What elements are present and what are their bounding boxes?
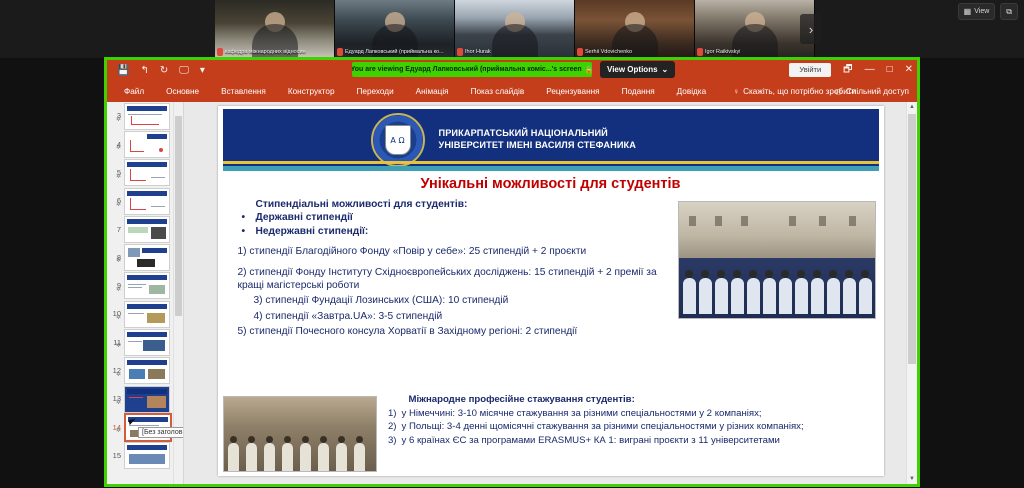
thumbnail-preview [124, 357, 170, 384]
thumbnail-item[interactable]: 12 ✲ [107, 357, 183, 385]
tab-file[interactable]: Файл [113, 87, 155, 96]
window-detail [689, 216, 696, 226]
person-shape [779, 278, 792, 314]
university-line-2: УНІВЕРСИТЕТ ІМЕНІ ВАСИЛЯ СТЕФАНИКА [439, 139, 636, 151]
participant-label: Ihor Hurak [457, 47, 572, 57]
thumb-band [142, 248, 167, 253]
screen-root: кафедра міжнародних відносин Едуард Лапк… [0, 0, 1024, 488]
person-head [781, 270, 789, 278]
internship-number: 3) [381, 435, 397, 448]
person-head [338, 436, 345, 443]
participant-tile[interactable]: Ihor Hurak [455, 0, 575, 58]
university-line-1: ПРИКАРПАТСЬКИЙ НАЦІОНАЛЬНИЙ [439, 127, 636, 139]
thumbnail-preview [124, 442, 170, 469]
thumb-line [151, 206, 165, 207]
window-controls: Увійти 🗗 — □ ✕ [789, 61, 913, 78]
person-shape [699, 278, 712, 314]
tab-home[interactable]: Основне [155, 87, 210, 96]
person-head [685, 270, 693, 278]
thumb-line [128, 284, 146, 285]
chevron-down-icon: ⌄ [662, 65, 669, 74]
reading-view-button[interactable]: ▥ [724, 486, 739, 487]
participant-label: Serhii Vdovichenko [577, 47, 692, 57]
slide-bullet: Державні стипендії [238, 211, 658, 224]
quick-access-toolbar: 💾 ↰ ↻ 🖵 ▾ You are viewing Едуард Лапковс… [107, 60, 917, 81]
tab-slideshow[interactable]: Показ слайдів [460, 87, 536, 96]
animation-star-icon: ✲ [110, 202, 121, 208]
slide-body-right: Міжнародне професійне стажування студент… [381, 394, 878, 447]
thumbnail-preview [124, 244, 170, 271]
scroll-up-icon[interactable]: ▲ [907, 102, 917, 112]
collapse-icon: ⧉ [1006, 8, 1012, 16]
screen-share-banner: You are viewing Едуард Лапковський (прий… [352, 62, 592, 77]
participant-tiles: кафедра міжнародних відносин Едуард Лапк… [215, 0, 815, 58]
person-shape [336, 443, 347, 471]
person-head [797, 270, 805, 278]
normal-view-button[interactable]: ▤ [676, 486, 691, 487]
slide-subheading: Стипендіальні можливості для студентів: [238, 198, 658, 211]
thumb-band [127, 162, 167, 167]
slide-sorter-button[interactable]: ▦ [700, 486, 715, 487]
thumbnail-preview [124, 188, 170, 215]
thumb-line [128, 114, 162, 115]
university-name: ПРИКАРПАТСЬКИЙ НАЦІОНАЛЬНИЙ УНІВЕРСИТЕТ … [439, 127, 636, 151]
internship-text: у Німеччині: 3-10 місячне стажування за … [402, 408, 878, 421]
person-shape [318, 443, 329, 471]
thumb-image [143, 340, 165, 351]
thumb-accent [130, 180, 146, 181]
slide-header-banner: A Ω ПРИКАРПАТСЬКИЙ НАЦІОНАЛЬНИЙ УНІВЕРСИ… [223, 109, 879, 171]
view-layout-button[interactable]: ▦ View [958, 3, 996, 20]
animation-star-icon: ✲ [110, 400, 121, 406]
tab-insert[interactable]: Вставлення [210, 87, 277, 96]
thumb-image [128, 227, 148, 233]
person-shape [811, 278, 824, 314]
internship-item: 3) у 6 країнах ЄС за програмами ERASMUS+… [381, 435, 878, 448]
window-detail [789, 216, 796, 226]
thumbnail-preview [124, 131, 170, 158]
mic-muted-icon [697, 48, 703, 56]
view-options-button[interactable]: View Options ⌄ [600, 61, 675, 78]
window-detail [741, 216, 748, 226]
people-row [681, 261, 873, 314]
thumb-accent [130, 151, 144, 152]
thumbnail-item[interactable]: 11 ✲ [107, 328, 183, 356]
thumb-accent [131, 124, 159, 125]
person-head [302, 436, 309, 443]
person-shape [715, 278, 728, 314]
customize-qat-icon[interactable]: ▾ [200, 66, 205, 76]
share-banner-text: You are viewing Едуард Лапковський (прий… [352, 66, 582, 73]
thumbnail-item[interactable]: 8 ✲ [107, 243, 183, 271]
participant-name: Едуард Лапковський (приймальна ко... [345, 48, 444, 56]
status-right: ⇡ Нотатки 🗨 Примітки ▤ ▦ ▥ ▭ − + 112% ⛶ [580, 486, 911, 487]
tab-design[interactable]: Конструктор [277, 87, 346, 96]
person-shape [843, 278, 856, 314]
tab-review[interactable]: Рецензування [535, 87, 610, 96]
thumb-image [147, 396, 166, 408]
thumb-line [128, 341, 142, 342]
tab-animations[interactable]: Анімація [405, 87, 460, 96]
participant-name: кафедра міжнародних відносин [225, 48, 306, 56]
animation-star-icon: ✲ [110, 174, 121, 180]
participant-label: кафедра міжнародних відносин [217, 47, 332, 57]
present-icon[interactable]: 🖵 [179, 66, 189, 76]
internship-text: у Польщі: 3-4 денні щомісячні стажування… [402, 421, 878, 434]
animation-star-icon: ✲ [110, 287, 121, 293]
slide-paragraph: 5) стипендії Почесного консула Хорватії … [238, 325, 658, 338]
lightbulb-icon: ♀ [733, 87, 739, 96]
person-head [284, 436, 291, 443]
person-shape [282, 443, 293, 471]
thumb-image [148, 369, 165, 379]
slide-photo-students-group [678, 201, 876, 319]
thumb-image [147, 313, 165, 323]
person-head [765, 270, 773, 278]
person-head [266, 436, 273, 443]
thumbnail-item[interactable]: 4 ✲ [107, 130, 183, 158]
person-head [733, 270, 741, 278]
thumb-band [127, 275, 167, 280]
logo-monogram: A Ω [385, 125, 411, 155]
slide-scrollbar-thumb[interactable] [908, 114, 916, 364]
tab-transitions[interactable]: Переходи [346, 87, 405, 96]
university-logo-icon: A Ω [371, 113, 425, 167]
person-head [717, 270, 725, 278]
person-head [230, 436, 237, 443]
thumbnail-item[interactable]: 13 ✲ [107, 385, 183, 413]
tab-help[interactable]: Довідка [666, 87, 717, 96]
participant-name: Serhii Vdovichenko [585, 48, 632, 56]
window-detail [849, 216, 856, 226]
thumb-image [149, 285, 165, 294]
slide-paragraph: 3) стипендії Фундації Лозинських (США): … [238, 294, 658, 307]
undo-icon[interactable]: ↰ [140, 66, 148, 76]
thumbnail-item-selected[interactable]: 14 ✲ [Без заголовка] [107, 413, 183, 441]
save-icon[interactable]: 💾 [117, 66, 129, 76]
thumbnail-preview [124, 159, 170, 186]
animation-star-icon: ✲ [110, 343, 121, 349]
internship-heading: Міжнародне професійне стажування студент… [381, 394, 878, 407]
slide-photo-classroom [223, 396, 377, 472]
restore-window-icon[interactable]: 🗗 [843, 65, 852, 75]
lock-icon: 🔒 [585, 66, 592, 74]
animation-star-icon: ✲ [110, 145, 121, 151]
thumbnail-item[interactable]: 9 ✲ [107, 272, 183, 300]
internship-text: у 6 країнах ЄС за програмами ERASMUS+ КА… [402, 435, 878, 448]
header-teal-rule [223, 166, 879, 171]
window-detail [715, 216, 722, 226]
thumb-accent [129, 397, 143, 398]
slide-paragraph: 4) стипендії «Завтра.UA»: 3-5 стипендій [238, 310, 658, 323]
thumb-band [127, 445, 167, 450]
thumb-band [127, 389, 167, 394]
scroll-down-icon[interactable]: ▼ [907, 474, 917, 484]
slide-scrollbar[interactable]: ▲ ▼ [906, 102, 917, 484]
person-head [248, 436, 255, 443]
thumbnail-scrollbar-thumb[interactable] [175, 116, 182, 316]
signin-button[interactable]: Увійти [789, 63, 831, 77]
person-share-icon: ⚇ [835, 87, 842, 97]
grid-view-icon: ▦ [964, 8, 972, 16]
slideshow-button[interactable]: ▭ [748, 486, 763, 487]
thumb-image [128, 248, 140, 257]
internship-number: 2) [381, 421, 397, 434]
thumbnail-item[interactable]: 3 ✲ [107, 102, 183, 130]
thumbnail-preview [124, 103, 170, 130]
view-layout-label: View [974, 8, 989, 15]
status-bar: Слайд 14 з 53 🗗 українська ⇡ Нотатки 🗨 П… [107, 484, 917, 487]
slide-canvas[interactable]: A Ω ПРИКАРПАТСЬКИЙ НАЦІОНАЛЬНИЙ УНІВЕРСИ… [184, 102, 917, 484]
thumbnail-item[interactable]: 7 [107, 215, 183, 243]
share-access-label: Спільний доступ [846, 87, 909, 96]
internship-item: 2) у Польщі: 3-4 денні щомісячні стажува… [381, 421, 878, 434]
person-head [320, 436, 327, 443]
slide-thumbnail-pane[interactable]: 3 ✲ 4 ✲ [107, 102, 184, 484]
person-shape [228, 443, 239, 471]
slide-surface[interactable]: A Ω ПРИКАРПАТСЬКИЙ НАЦІОНАЛЬНИЙ УНІВЕРСИ… [218, 106, 884, 476]
participant-tile[interactable]: Едуард Лапковський (приймальна ко... [335, 0, 455, 58]
work-area: 3 ✲ 4 ✲ [107, 102, 917, 484]
minimize-video-button[interactable]: ⧉ [1000, 3, 1018, 20]
thumb-accent [159, 148, 163, 152]
thumbnail-item[interactable]: 15 [107, 442, 183, 470]
thumbnail-preview [124, 329, 170, 356]
thumb-band [127, 304, 167, 309]
thumb-band [127, 106, 167, 111]
thumbnail-item[interactable]: 10 ✲ [107, 300, 183, 328]
ribbon-tabs: Файл Основне Вставлення Конструктор Пере… [107, 81, 917, 102]
thumbnail-tooltip: [Без заголовка] [138, 427, 184, 438]
internship-item: 1) у Німеччині: 3-10 місячне стажування … [381, 408, 878, 421]
animation-star-icon: ✲ [110, 315, 121, 321]
person-head [829, 270, 837, 278]
slide-paragraph: 2) стипендії Фонду Інституту Східноєвроп… [238, 266, 658, 293]
participant-tile[interactable]: Serhii Vdovichenko [575, 0, 695, 58]
thumbnail-preview [124, 386, 170, 413]
slide-body-left: Стипендіальні можливості для студентів: … [238, 198, 658, 339]
thumbnail-preview [124, 216, 170, 243]
person-head [845, 270, 853, 278]
thumb-image [129, 454, 165, 464]
mic-muted-icon [217, 48, 223, 56]
window-detail [819, 216, 826, 226]
person-head [813, 270, 821, 278]
mic-muted-icon [577, 48, 583, 56]
maximize-window-icon[interactable]: □ [887, 65, 893, 75]
status-left: Слайд 14 з 53 🗗 українська [107, 486, 222, 487]
participant-tile[interactable]: кафедра міжнародних відносин [215, 0, 335, 58]
person-shape [747, 278, 760, 314]
thumb-line [128, 313, 144, 314]
person-shape [264, 443, 275, 471]
slide-bullet: Недержавні стипендії: [238, 225, 658, 238]
thumb-band [127, 332, 167, 337]
share-access-button[interactable]: ⚇ Спільний доступ [835, 87, 909, 97]
mic-muted-icon [337, 48, 343, 56]
close-window-icon[interactable]: ✕ [905, 65, 913, 75]
participant-label: Igor Raikivskyi [697, 47, 812, 57]
header-gold-rule [223, 161, 879, 164]
person-head [861, 270, 869, 278]
animation-star-icon: ✲ [110, 117, 121, 123]
thumbnail-number: 7 [110, 226, 121, 234]
participant-name: Ihor Hurak [465, 48, 491, 56]
participant-tile[interactable]: Igor Raikivskyi [695, 0, 815, 58]
thumbnail-number: 15 [110, 452, 121, 460]
person-shape [354, 443, 365, 471]
thumbnail-item[interactable]: 6 ✲ [107, 187, 183, 215]
minimize-window-icon[interactable]: — [865, 65, 875, 75]
video-conference-strip: кафедра міжнародних відносин Едуард Лапк… [0, 0, 1024, 58]
person-shape [859, 278, 872, 314]
animation-star-icon: ✲ [110, 258, 121, 264]
redo-icon[interactable]: ↻ [160, 66, 168, 76]
thumb-image [137, 259, 155, 267]
person-head [749, 270, 757, 278]
slide-title: Унікальні можливості для студентів [218, 176, 884, 192]
thumb-accent [130, 209, 146, 210]
building-backdrop [679, 202, 875, 258]
person-head [701, 270, 709, 278]
participant-name: Igor Raikivskyi [705, 48, 740, 56]
view-options-label: View Options [607, 65, 658, 74]
person-shape [827, 278, 840, 314]
slide-paragraph: 1) стипендії Благодійного Фонду «Повір у… [238, 245, 658, 258]
person-shape [246, 443, 257, 471]
tab-view[interactable]: Подання [611, 87, 666, 96]
thumb-line [129, 425, 159, 426]
thumb-image [129, 369, 145, 379]
powerpoint-window: 💾 ↰ ↻ 🖵 ▾ You are viewing Едуард Лапковс… [104, 57, 920, 487]
person-shape [300, 443, 311, 471]
person-shape [795, 278, 808, 314]
thumb-band [127, 360, 167, 365]
people-row [224, 419, 376, 471]
thumb-image [151, 227, 166, 239]
animation-star-icon: ✲ [110, 428, 121, 434]
animation-star-icon: ✲ [110, 372, 121, 378]
thumb-band [127, 191, 167, 196]
person-shape [731, 278, 744, 314]
person-shape [683, 278, 696, 314]
internship-number: 1) [381, 408, 397, 421]
person-shape [763, 278, 776, 314]
thumb-line [151, 177, 165, 178]
thumbnail-preview [124, 272, 170, 299]
thumb-band [147, 134, 167, 139]
thumbnail-preview [124, 301, 170, 328]
thumb-band [127, 219, 167, 224]
accessibility-icon[interactable]: 🗗 [170, 486, 177, 487]
participant-label: Едуард Лапковський (приймальна ко... [337, 47, 452, 57]
thumb-line [128, 287, 142, 288]
meeting-top-controls: ▦ View ⧉ [958, 3, 1018, 20]
mic-muted-icon [457, 48, 463, 56]
person-head [356, 436, 363, 443]
next-participants-button[interactable]: › [800, 14, 822, 44]
thumbnail-item[interactable]: 5 ✲ [107, 159, 183, 187]
